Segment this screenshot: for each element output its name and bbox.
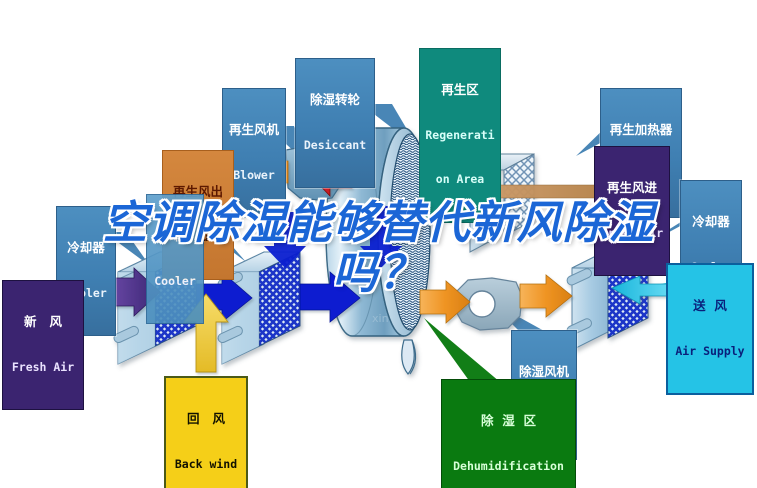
callout-cooler-left-lower-en: Cooler bbox=[151, 276, 199, 288]
callout-cooler-left-lower[interactable]: 冷却器 Cooler bbox=[146, 194, 204, 324]
callout-cooler-left-upper-cn: 冷却器 bbox=[61, 242, 111, 255]
callout-regeneration-heater-cn: 再生加热器 bbox=[605, 124, 677, 137]
callout-desiccant-en: Desiccant bbox=[300, 140, 370, 152]
callout-regen-blower-en: Blower bbox=[227, 170, 281, 182]
callout-dehumidification-district-cn: 除 湿 区 bbox=[446, 415, 571, 428]
callout-regeneration-area[interactable]: 再生区 Regenerati on Area bbox=[419, 48, 501, 223]
callout-regen-blower-cn: 再生风机 bbox=[227, 124, 281, 137]
callout-cooler-right-cn: 冷却器 bbox=[685, 216, 737, 229]
callout-dehumid-blower-cn: 除湿风机 bbox=[516, 366, 572, 379]
callout-fresh-air-cn: 新 风 bbox=[7, 316, 79, 329]
diagram-canvas: xin 除湿转轮 Desiccant 再生风机 Blower 再生区 Regen… bbox=[0, 0, 757, 488]
callout-dehumidification-district[interactable]: 除 湿 区 Dehumidification District bbox=[441, 379, 576, 488]
callout-regen-fresh-air-cn: 再生风进 bbox=[599, 182, 665, 195]
callout-regen-fresh-air-en: Fresh Air bbox=[599, 228, 665, 240]
callout-cooler-left-lower-cn: 冷却器 bbox=[151, 230, 199, 243]
callout-dehumidification-district-en1: Dehumidification bbox=[446, 461, 571, 473]
callout-regeneration-area-en2: on Area bbox=[424, 174, 496, 186]
callout-desiccant-cn: 除湿转轮 bbox=[300, 94, 370, 107]
callout-regeneration-area-en1: Regenerati bbox=[424, 130, 496, 142]
arrow-blower-to-cooler bbox=[520, 275, 572, 317]
callout-back-wind-en: Back wind bbox=[170, 459, 242, 471]
callout-back-wind-cn: 回 风 bbox=[170, 413, 242, 426]
callout-air-supply-en: Air Supply bbox=[672, 346, 748, 358]
callout-regeneration-area-cn: 再生区 bbox=[424, 84, 496, 97]
callout-fresh-air[interactable]: 新 风 Fresh Air bbox=[2, 280, 84, 410]
callout-back-wind[interactable]: 回 风 Back wind bbox=[164, 376, 248, 488]
callout-air-supply-cn: 送 风 bbox=[672, 300, 748, 313]
callout-air-supply[interactable]: 送 风 Air Supply bbox=[666, 263, 754, 395]
rotor-watermark: xin bbox=[372, 312, 389, 325]
callout-desiccant[interactable]: 除湿转轮 Desiccant bbox=[295, 58, 375, 188]
callout-fresh-air-en: Fresh Air bbox=[7, 362, 79, 374]
callout-regen-fresh-air[interactable]: 再生风进 Fresh Air bbox=[594, 146, 670, 276]
